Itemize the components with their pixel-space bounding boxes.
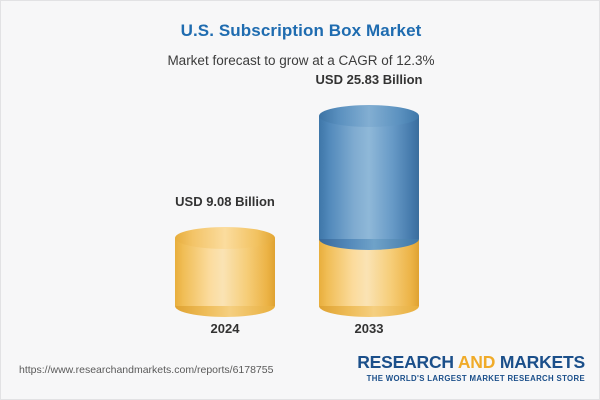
source-url-link[interactable]: https://www.researchandmarkets.com/repor…	[19, 364, 273, 376]
footer: https://www.researchandmarkets.com/repor…	[1, 349, 600, 399]
bar-2033[interactable]: USD 25.83 Billion 2033	[319, 105, 419, 306]
chart-subtitle: Market forecast to grow at a CAGR of 12.…	[1, 53, 600, 68]
cylinder-top-2024	[175, 227, 275, 249]
logo-wordmark: RESEARCH AND MARKETS	[357, 354, 585, 372]
logo-word-markets: MARKETS	[500, 352, 585, 372]
chart-canvas: U.S. Subscription Box Market Market fore…	[0, 0, 600, 400]
bar-2024[interactable]: USD 9.08 Billion 2024	[175, 227, 275, 306]
cylinder-top-2033	[319, 105, 419, 127]
logo-word-and: AND	[458, 352, 495, 372]
category-label-2033: 2033	[269, 321, 469, 336]
plot-area: USD 9.08 Billion 2024 USD 25.83 Billion	[1, 79, 600, 344]
bar-value-label-2033: USD 25.83 Billion	[269, 72, 469, 87]
bar-value-label-2024: USD 9.08 Billion	[125, 194, 325, 209]
chart-title: U.S. Subscription Box Market	[1, 21, 600, 41]
logo-tagline: THE WORLD'S LARGEST MARKET RESEARCH STOR…	[357, 375, 585, 383]
cylinder-body-2033-blue	[319, 116, 419, 239]
research-and-markets-logo[interactable]: RESEARCH AND MARKETS THE WORLD'S LARGEST…	[357, 354, 585, 382]
logo-word-research: RESEARCH	[357, 352, 454, 372]
